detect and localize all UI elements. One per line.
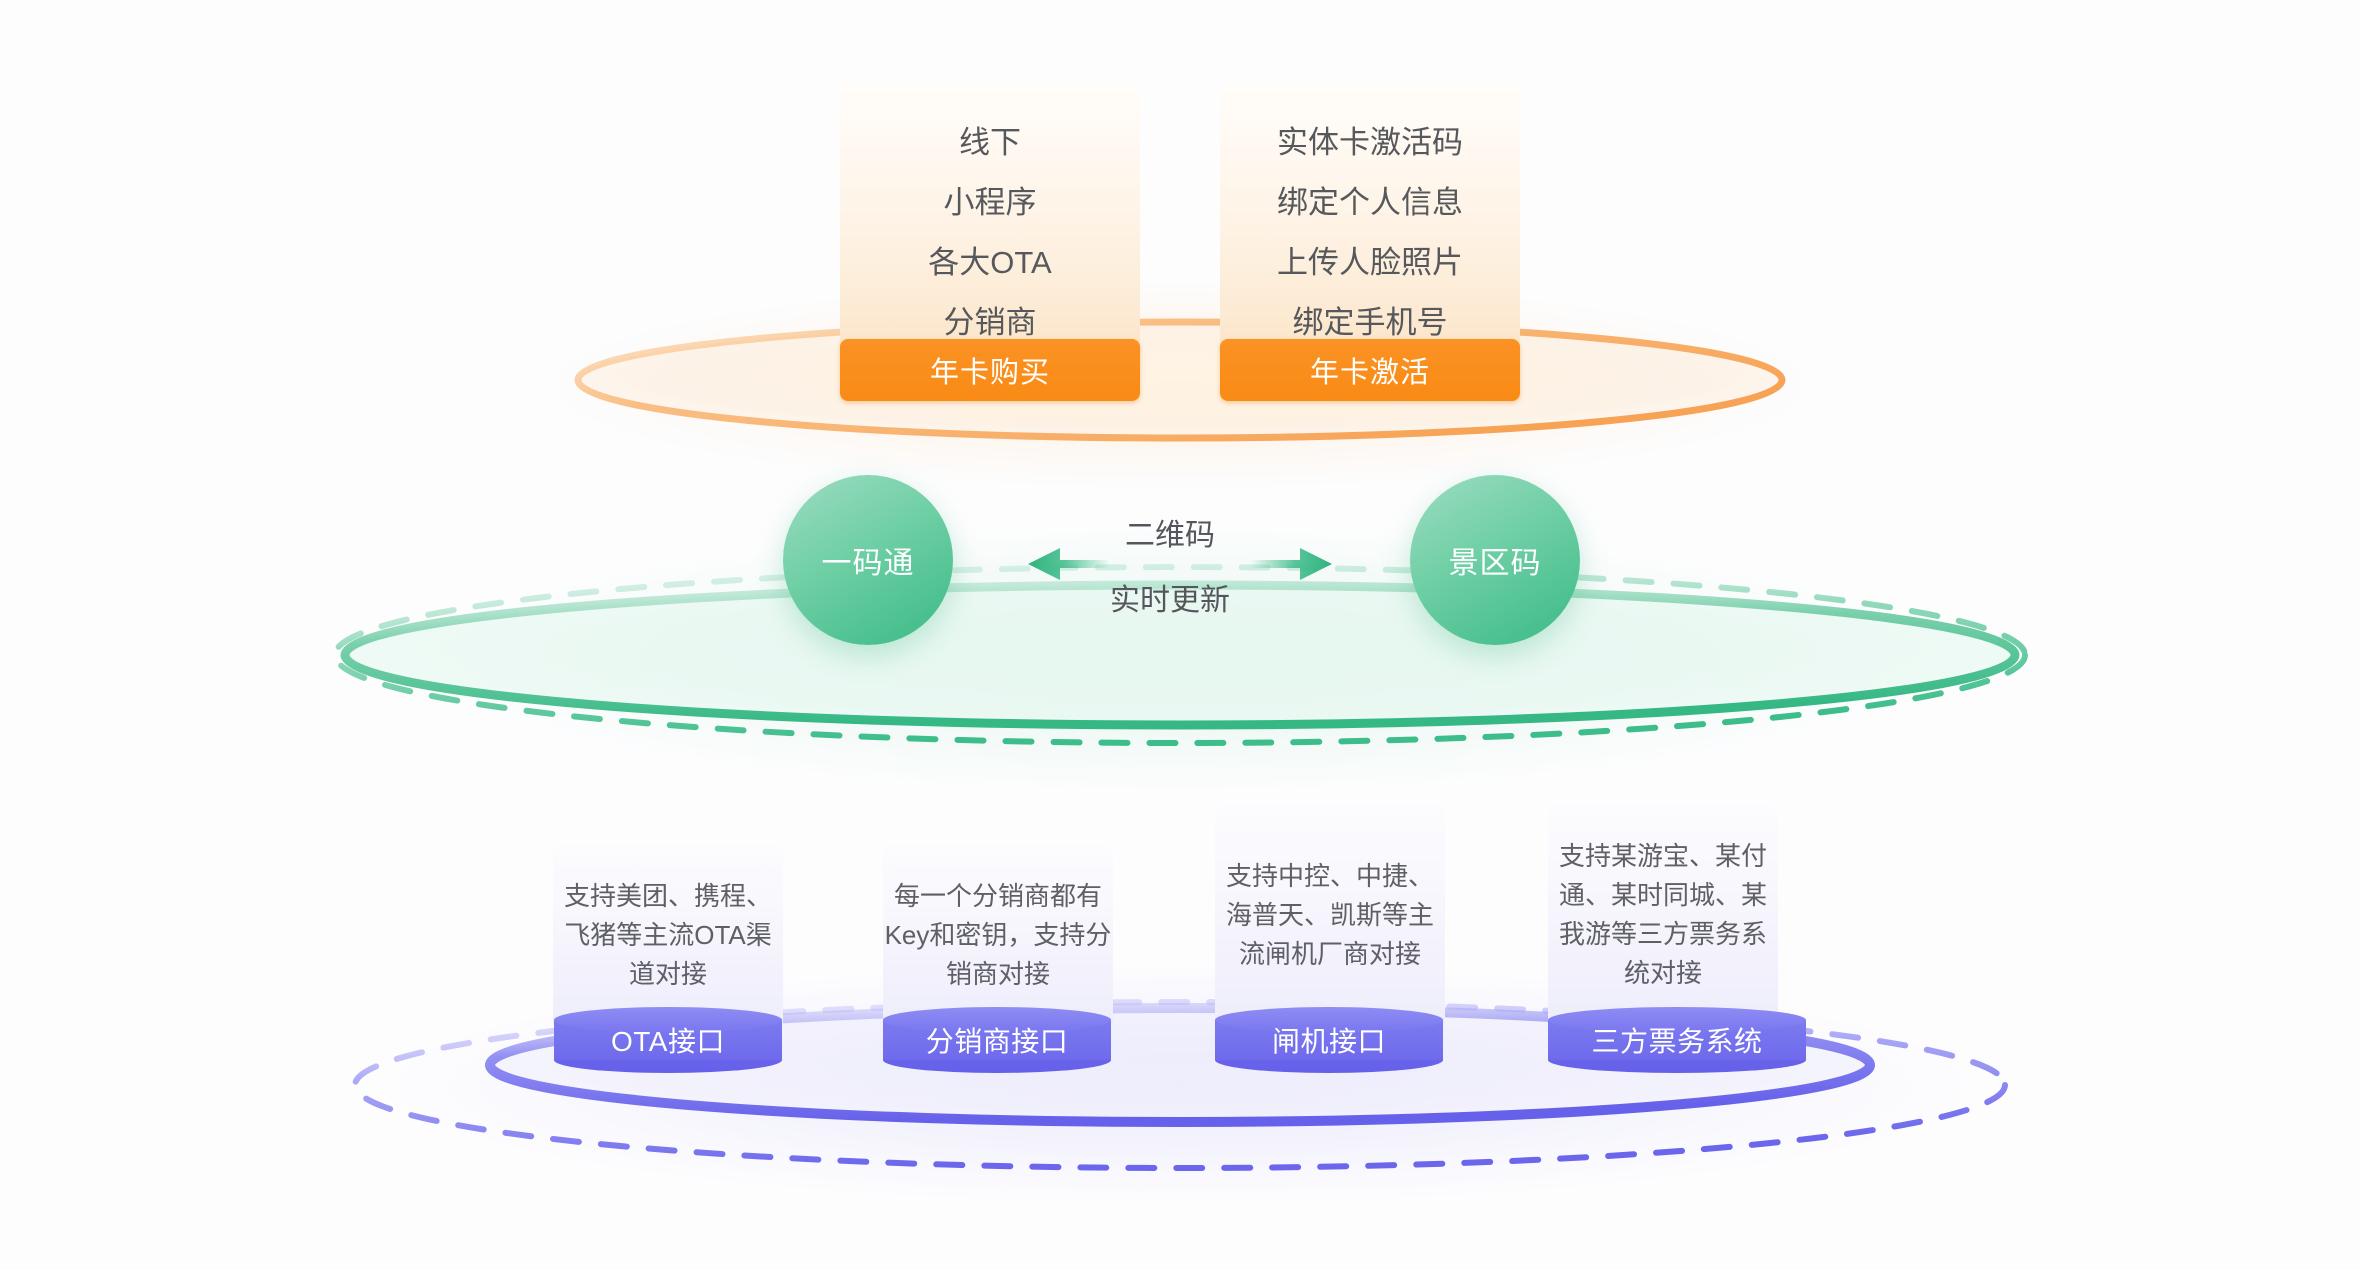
- gate-interface-description: 支持中控、中捷、海普天、凯斯等主流闸机厂商对接: [1215, 857, 1445, 974]
- ota-interface-label: OTA接口: [554, 1007, 782, 1073]
- diagram-canvas: 线下 小程序 各大OTA 分销商 年卡购买 实体卡激活码 绑定个人信息 上传人脸…: [0, 0, 2360, 1270]
- activation-card-lines: 实体卡激活码 绑定个人信息 上传人脸照片 绑定手机号: [1220, 104, 1520, 362]
- purchase-line-2: 小程序: [944, 173, 1037, 233]
- gate-interface-label: 闸机接口: [1215, 1007, 1443, 1073]
- ota-interface-card: 支持美团、携程、飞猪等主流OTA渠道对接: [553, 845, 783, 1025]
- purchase-card-lines: 线下 小程序 各大OTA 分销商: [840, 104, 1140, 362]
- activation-line-3: 上传人脸照片: [1277, 233, 1463, 293]
- orange-platform-ring: [578, 322, 1782, 438]
- annual-card-activation-button[interactable]: 年卡激活: [1220, 339, 1520, 401]
- third-party-ticketing-description-wrap: 支持某游宝、某付通、某时同城、某我游等三方票务系统对接: [1544, 805, 1782, 1025]
- qrcode-label: 二维码: [1060, 510, 1280, 554]
- distributor-interface-description-wrap: 每一个分销商都有Key和密钥，支持分销商对接: [879, 845, 1117, 1025]
- third-party-ticketing-button[interactable]: 三方票务系统: [1548, 1007, 1806, 1073]
- yimatong-circle[interactable]: 一码通: [783, 475, 953, 645]
- distributor-interface-description: 每一个分销商都有Key和密钥，支持分销商对接: [883, 877, 1113, 994]
- third-party-ticketing-card: 支持某游宝、某付通、某时同城、某我游等三方票务系统对接: [1548, 805, 1778, 1025]
- distributor-interface-button[interactable]: 分销商接口: [883, 1007, 1111, 1073]
- activation-card: 实体卡激活码 绑定个人信息 上传人脸照片 绑定手机号: [1220, 82, 1520, 362]
- activation-line-2: 绑定个人信息: [1277, 173, 1463, 233]
- annual-card-purchase-button[interactable]: 年卡购买: [840, 339, 1140, 401]
- purchase-line-3: 各大OTA: [928, 233, 1051, 293]
- third-party-ticketing-label: 三方票务系统: [1548, 1007, 1806, 1073]
- gate-interface-button[interactable]: 闸机接口: [1215, 1007, 1443, 1073]
- purchase-line-1: 线下: [959, 113, 1021, 173]
- third-party-ticketing-description: 支持某游宝、某付通、某时同城、某我游等三方票务系统对接: [1548, 837, 1778, 993]
- ota-interface-description: 支持美团、携程、飞猪等主流OTA渠道对接: [553, 877, 783, 994]
- activation-line-1: 实体卡激活码: [1277, 113, 1463, 173]
- ota-interface-description-wrap: 支持美团、携程、飞猪等主流OTA渠道对接: [549, 845, 787, 1025]
- distributor-interface-card: 每一个分销商都有Key和密钥，支持分销商对接: [883, 845, 1113, 1025]
- gate-interface-description-wrap: 支持中控、中捷、海普天、凯斯等主流闸机厂商对接: [1211, 805, 1449, 1025]
- scenic-code-circle[interactable]: 景区码: [1410, 475, 1580, 645]
- realtime-update-label: 实时更新: [1060, 575, 1280, 619]
- purchase-card: 线下 小程序 各大OTA 分销商: [840, 82, 1140, 362]
- distributor-interface-label: 分销商接口: [883, 1007, 1111, 1073]
- ota-interface-button[interactable]: OTA接口: [554, 1007, 782, 1073]
- platform-rings: [0, 0, 2360, 1270]
- gate-interface-card: 支持中控、中捷、海普天、凯斯等主流闸机厂商对接: [1215, 805, 1445, 1025]
